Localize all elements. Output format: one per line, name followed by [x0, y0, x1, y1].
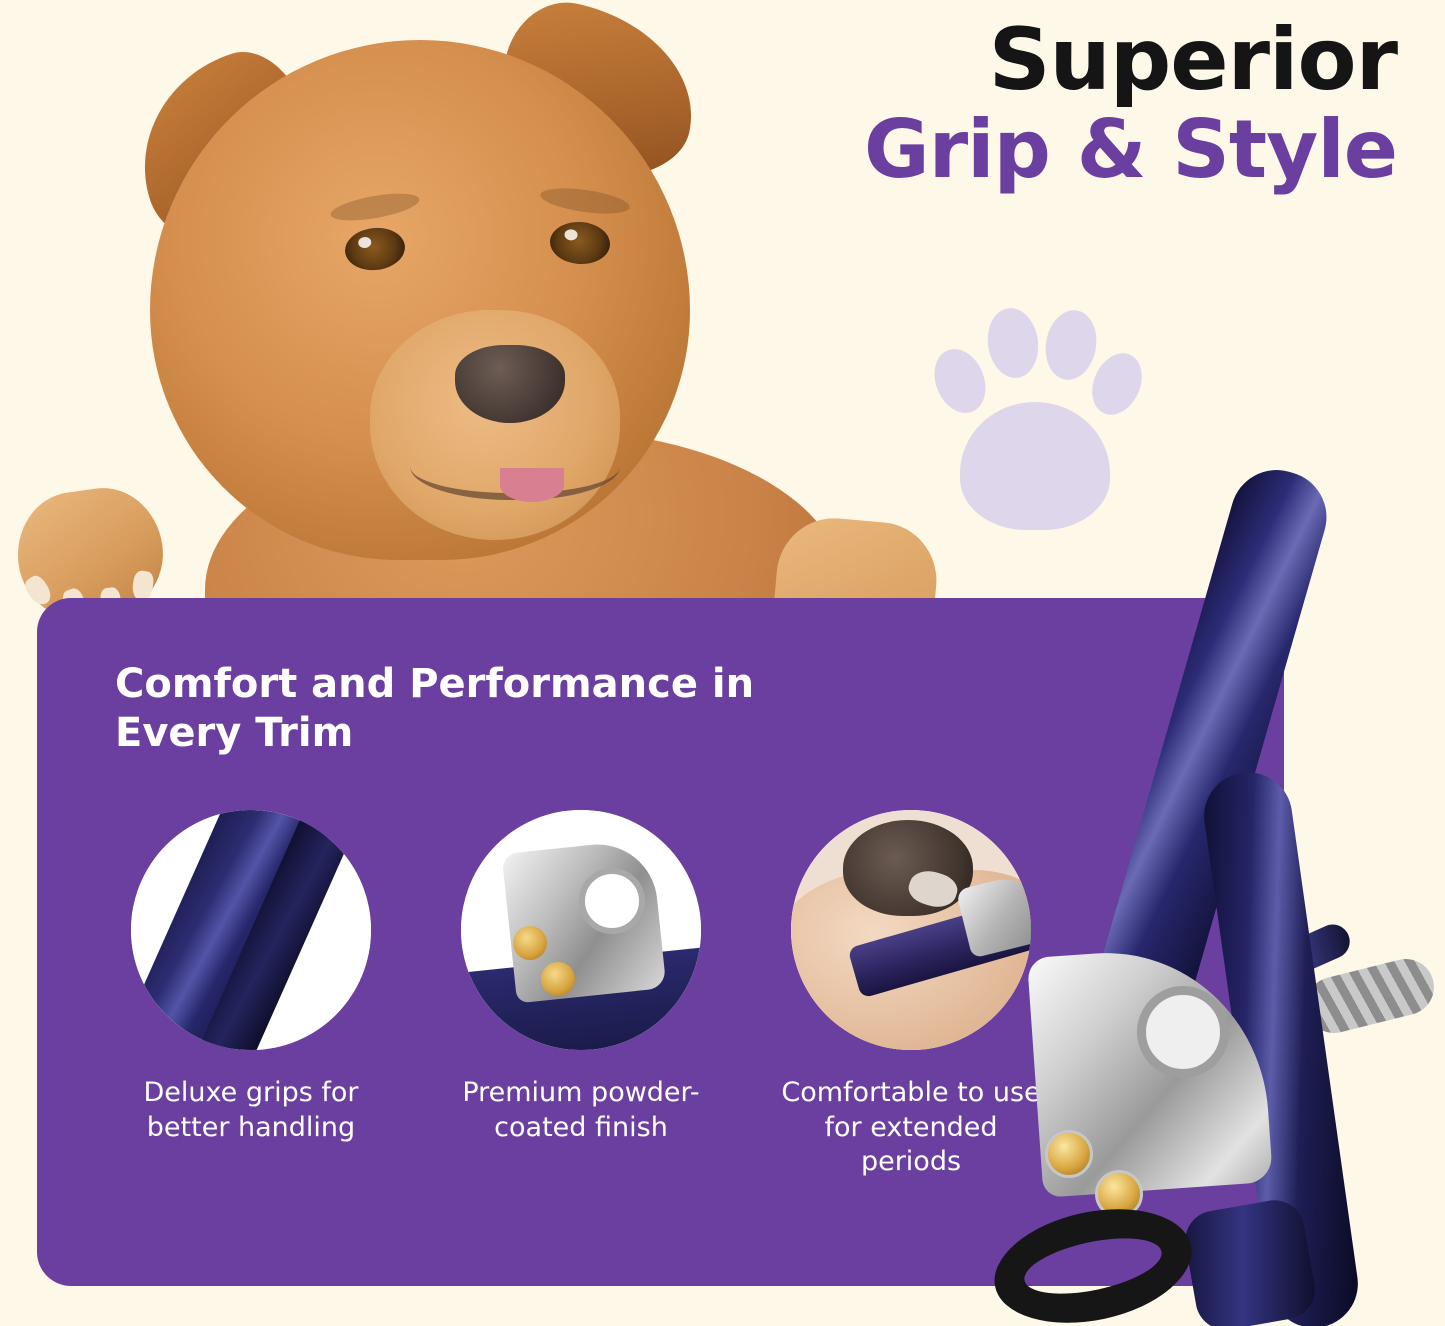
feature-item: Premium powder-coated finish	[445, 810, 717, 1180]
paw-toe	[1040, 306, 1101, 384]
dog-claw	[22, 573, 55, 609]
headline-block: Superior Grip & Style	[757, 18, 1397, 192]
eye-glint	[564, 229, 578, 241]
clipper-grip	[1180, 1195, 1319, 1326]
clipper-cutting-hole	[1137, 986, 1229, 1078]
headline-secondary: Grip & Style	[757, 108, 1397, 192]
paw-toe	[925, 341, 994, 420]
clipper-screw	[1045, 1130, 1093, 1178]
clipper-cutting-hole	[579, 868, 645, 934]
dog-tongue	[500, 468, 564, 502]
feature-caption: Deluxe grips for better handling	[115, 1076, 387, 1145]
clipper-steel-head	[502, 839, 667, 1004]
clipper-screw	[541, 962, 575, 996]
promo-page: Superior Grip & Style Comfort and Perfor…	[0, 0, 1445, 1326]
headline-primary: Superior	[757, 18, 1397, 102]
card-title: Comfort and Performance in Every Trim	[115, 660, 815, 758]
handle-closeup-photo	[131, 810, 371, 1050]
paw-toe	[983, 305, 1042, 381]
clipper-rubber-loop	[984, 1192, 1202, 1326]
feature-list: Deluxe grips for better handling Premium…	[115, 810, 1115, 1180]
nail-clipper-product-photo	[975, 470, 1445, 1326]
clipper-screw	[513, 926, 547, 960]
feature-item: Deluxe grips for better handling	[115, 810, 387, 1180]
dog-paw	[843, 820, 973, 916]
feature-caption: Premium powder-coated finish	[445, 1076, 717, 1145]
clipper-head-photo	[461, 810, 701, 1050]
eye-glint	[358, 236, 372, 248]
